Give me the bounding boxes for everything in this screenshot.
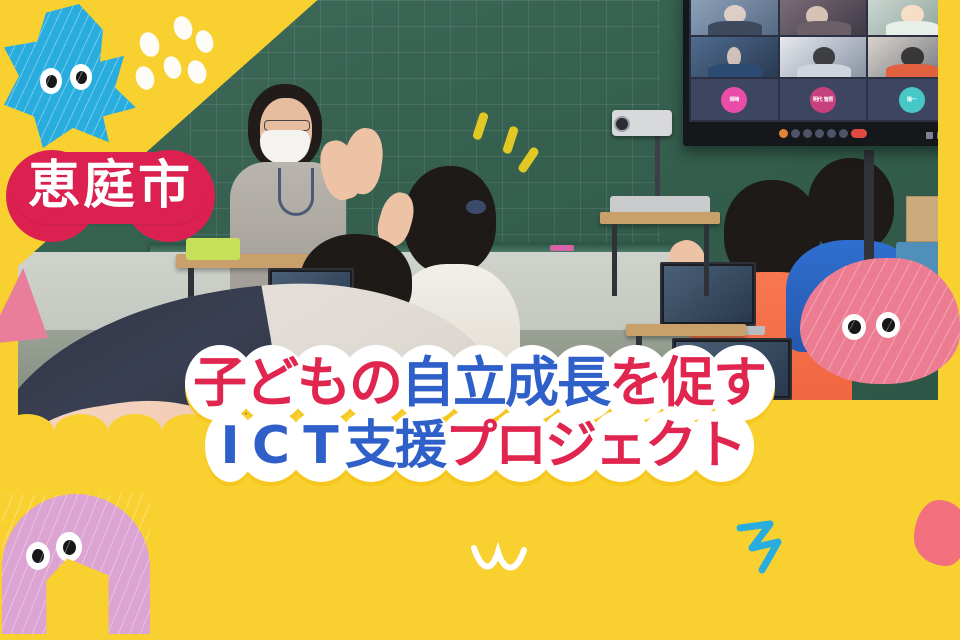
headline-char: 長 <box>553 352 615 414</box>
headline-char: 成 <box>501 352 563 414</box>
headline-char: を <box>605 352 667 414</box>
char-glyph: 子 <box>193 356 247 410</box>
headline-char: 支 <box>342 416 400 476</box>
settings-icon[interactable] <box>926 132 933 139</box>
headline-char: も <box>293 352 355 414</box>
pink-blob <box>914 500 960 566</box>
headline-char: 立 <box>449 352 511 414</box>
participant-name: 陽一 <box>907 96 916 103</box>
more-button[interactable] <box>839 129 848 138</box>
headline-char: の <box>345 352 407 414</box>
char-glyph: も <box>297 356 351 410</box>
desk-leg <box>704 224 709 296</box>
share-button[interactable] <box>803 129 812 138</box>
badge-label: 恵庭市 <box>28 160 193 212</box>
headline-char: ェ <box>592 416 650 476</box>
char-glyph: ェ <box>595 420 647 472</box>
char-glyph: ク <box>645 420 697 472</box>
char-glyph: ト <box>695 420 747 472</box>
mascot-eye <box>56 532 82 562</box>
face-mask-icon <box>260 130 310 164</box>
headline-char: ク <box>642 416 700 476</box>
video-tile[interactable] <box>780 0 867 35</box>
participant-name: 明代 管原 <box>813 96 833 103</box>
char-glyph: ロ <box>495 420 547 472</box>
poster-canvas: JAPAN <box>0 0 960 640</box>
white-squiggle-icon <box>468 542 538 582</box>
headline-char: 援 <box>392 416 450 476</box>
headline-char: 子 <box>189 352 251 414</box>
badge-pill: 恵庭市 <box>12 152 209 224</box>
char-glyph: I <box>220 420 239 472</box>
headline-char: ロ <box>492 416 550 476</box>
teacher-head <box>248 84 322 170</box>
char-glyph: 支 <box>345 420 397 472</box>
headline-line-1: 子どもの自立成長を促す <box>194 352 766 414</box>
headline-char: す <box>709 352 771 414</box>
headline-char: ど <box>241 352 303 414</box>
video-tile-avatar[interactable]: 明代 管原 <box>780 79 867 120</box>
video-tile-avatar[interactable]: 師崎 <box>691 79 778 120</box>
char-glyph: ジ <box>545 420 597 472</box>
end-call-button[interactable] <box>851 129 867 138</box>
char-glyph: 長 <box>557 356 611 410</box>
mascot-eye <box>842 314 866 340</box>
chat-button[interactable] <box>827 129 836 138</box>
char-glyph: 援 <box>395 420 447 472</box>
char-glyph: C <box>252 420 290 472</box>
char-glyph: す <box>713 356 767 410</box>
green-basket <box>186 238 240 260</box>
video-call-toolbar <box>683 124 960 142</box>
char-glyph: ど <box>245 356 299 410</box>
headline-char: ジ <box>542 416 600 476</box>
mic-button[interactable] <box>779 129 788 138</box>
mascot-eye <box>70 64 92 90</box>
headline-char: プ <box>442 416 500 476</box>
char-glyph: 立 <box>453 356 507 410</box>
camera-lens-icon <box>614 116 630 132</box>
video-tile[interactable] <box>691 0 778 35</box>
char-glyph: 促 <box>661 356 715 410</box>
student-head <box>404 166 496 274</box>
video-grid: 師崎 明代 管原 陽一 <box>689 0 957 122</box>
participant-name: 師崎 <box>730 96 739 103</box>
camera-button[interactable] <box>791 129 800 138</box>
blue-zigzag-icon <box>736 518 808 578</box>
char-glyph: プ <box>445 420 497 472</box>
headline-line-2: ICT支援プロジェクト <box>214 416 746 476</box>
headline: 子どもの自立成長を促す ICT支援プロジェクト <box>0 352 960 476</box>
char-glyph: 成 <box>505 356 559 410</box>
participants-button[interactable] <box>815 129 824 138</box>
lanyard <box>278 168 314 216</box>
hair-scrunchie <box>466 200 486 214</box>
video-call-display: 師崎 明代 管原 陽一 <box>683 0 960 146</box>
desk-leg <box>612 224 617 296</box>
mascot-eye <box>40 68 62 94</box>
headline-char: 自 <box>397 352 459 414</box>
video-tile[interactable] <box>780 37 867 78</box>
mascot-eye <box>876 312 900 338</box>
char-glyph: 自 <box>401 356 455 410</box>
char-glyph: の <box>349 356 403 410</box>
headline-char: ト <box>692 416 750 476</box>
equipment-desk <box>600 212 720 224</box>
char-glyph: を <box>609 356 663 410</box>
city-badge: 恵庭市 <box>8 152 213 224</box>
video-tile[interactable] <box>691 37 778 78</box>
headline-char: 促 <box>657 352 719 414</box>
char-glyph: T <box>303 420 338 472</box>
mascot-eye <box>26 542 50 570</box>
student-head <box>808 158 894 252</box>
student-desk <box>626 324 746 336</box>
